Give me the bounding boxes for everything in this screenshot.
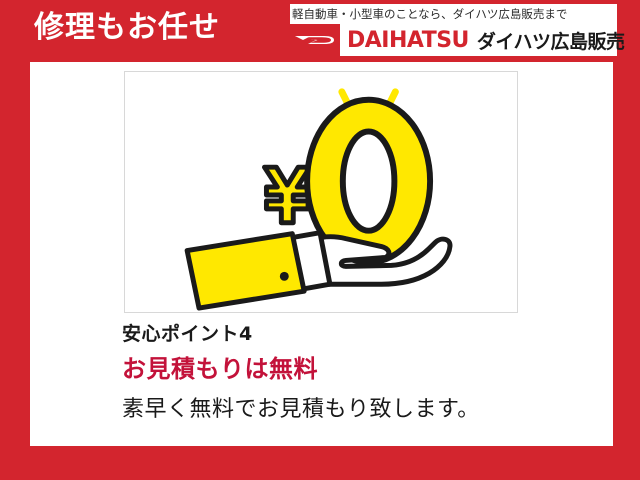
banner-headline: 修理もお任せ xyxy=(34,8,220,48)
brand-lockup: 軽自動車・小型車のことなら、ダイハツ広島販売まで DAIHATSU ダイハツ広島… xyxy=(285,4,617,58)
daihatsu-wordmark: DAIHATSU xyxy=(347,28,469,53)
brand-tagline: 軽自動車・小型車のことなら、ダイハツ広島販売まで xyxy=(290,4,617,24)
sleeve-button-dot xyxy=(280,272,289,281)
point-label: 安心ポイント4 xyxy=(122,320,613,348)
yen-zero-hand-illustration xyxy=(125,72,517,312)
brand-row: DAIHATSU ダイハツ広島販売 xyxy=(290,24,617,56)
daihatsu-d-emblem-icon xyxy=(290,24,340,56)
yen-symbol-icon xyxy=(264,167,310,223)
dealer-name: ダイハツ広島販売 xyxy=(477,27,625,54)
point-headline: お見積もりは無料 xyxy=(122,350,613,388)
point-description: 素早く無料でお見積もり致します。 xyxy=(122,392,613,428)
illustration-frame xyxy=(124,71,518,313)
header-band: 修理もお任せ 軽自動車・小型車のことなら、ダイハツ広島販売まで DAIHATSU… xyxy=(0,0,640,62)
caption-block: 安心ポイント4 お見積もりは無料 素早く無料でお見積もり致します。 xyxy=(30,320,613,428)
content-panel: 安心ポイント4 お見積もりは無料 素早く無料でお見積もり致します。 xyxy=(30,62,613,446)
advertisement-banner: 修理もお任せ 軽自動車・小型車のことなら、ダイハツ広島販売まで DAIHATSU… xyxy=(0,0,640,480)
